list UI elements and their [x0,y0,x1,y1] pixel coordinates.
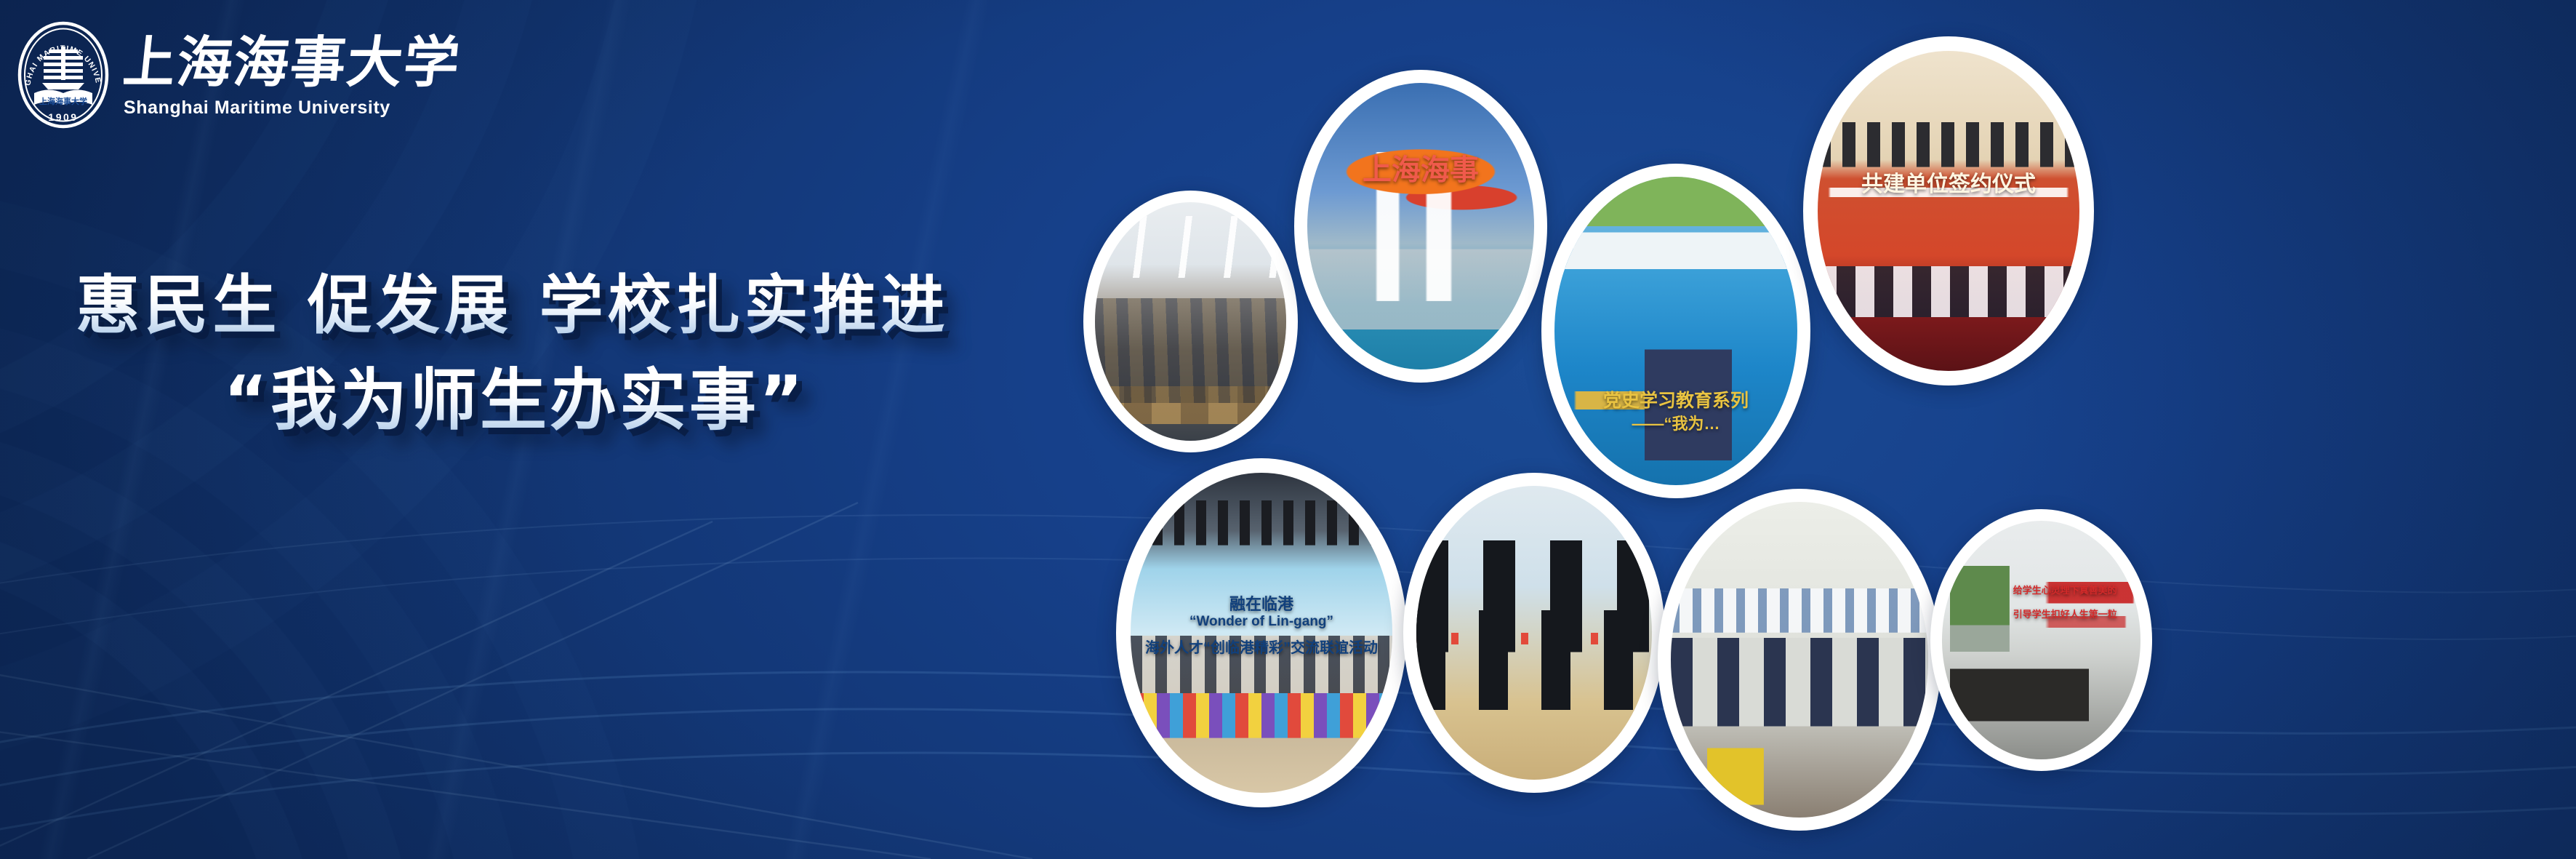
photo-bubble-counseling-room[interactable]: 给学生心灵埋下真善美的 引导学生扣好人生第一粒 [1930,509,2152,771]
photo-caption-lifeboat: 上海海事 [1363,146,1479,188]
photo-bubble-lingang-event[interactable]: 融在临港 “Wonder of Lin-gang” 海外人才“创临港精彩”交流联… [1116,458,1407,807]
university-banner: SHANGHAI MARITIME UNIVERSITY 上海海事大学 1909… [0,0,2576,859]
photo-caption-counseling: 给学生心灵埋下真善美的 [2013,583,2117,596]
university-seal-icon: SHANGHAI MARITIME UNIVERSITY 上海海事大学 1909 [16,20,111,129]
svg-text:上海海事大学: 上海海事大学 [124,32,464,95]
photo-bubble-lifeboat-drill[interactable]: 上海海事 [1294,70,1547,383]
university-wordmark-cn-icon: 上海海事大学 [124,32,465,95]
headline-line-2: “我为师生办实事” [19,364,1011,436]
photo-food-truck [1554,177,1797,485]
photo-caption-lingang: 融在临港 [1229,591,1293,615]
photo-bubble-graduation[interactable] [1403,473,1665,793]
photo-lecture-hall [1095,202,1286,441]
university-logo[interactable]: SHANGHAI MARITIME UNIVERSITY 上海海事大学 1909… [16,20,465,129]
photo-caption2-lingang: “Wonder of Lin-gang” [1189,614,1333,630]
photo-career-fair [1671,502,1928,818]
photo-counseling-room [1942,521,2140,759]
photo-lifeboat-drill [1307,83,1534,369]
svg-text:1909: 1909 [48,111,78,123]
headline-block: 惠民生 促发展 学校扎实推进 “我为师生办实事” [0,271,1011,436]
photo-bubble-food-truck[interactable]: 党史学习教育系列 ——“我为… [1541,164,1810,498]
photo-caption-food-truck: 党史学习教育系列 [1603,386,1749,412]
photo-bubble-lecture-hall[interactable] [1083,191,1298,452]
university-wordmark-en: Shanghai Maritime University [124,97,465,119]
photo-collage: 上海海事 党史学习教育系列 ——“我为… 共建单位签约仪式 融在临港 “Wond… [1076,0,2576,859]
photo-graduation [1416,486,1652,780]
headline-line-1: 惠民生 促发展 学校扎实推进 [15,271,1011,340]
svg-text:上海海事大学: 上海海事大学 [39,96,87,106]
photo-caption3-lingang: 海外人才“创临港精彩”交流联谊活动 [1145,636,1378,657]
photo-bubble-career-fair[interactable] [1658,489,1941,831]
photo-signing-ceremony [1818,51,2079,371]
photo-caption2-food-truck: ——“我为… [1632,411,1720,434]
photo-caption2-counseling: 引导学生扣好人生第一粒 [2013,607,2117,620]
photo-lingang-event [1131,473,1392,793]
photo-bubble-signing-ceremony[interactable]: 共建单位签约仪式 [1803,36,2094,385]
photo-caption-signing-ceremony: 共建单位签约仪式 [1861,166,2036,198]
